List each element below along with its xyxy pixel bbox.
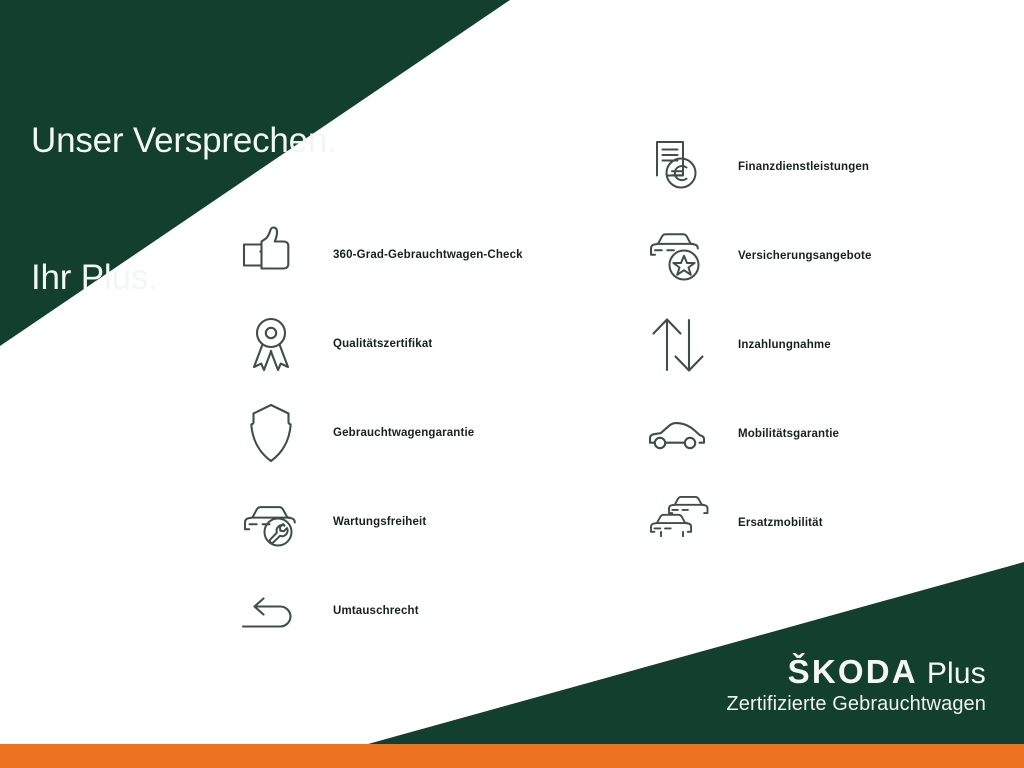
feature-label: Ersatzmobilität [738,517,823,529]
feature-item-exchange-right[interactable]: Umtauschrecht [238,566,523,655]
feature-item-insurance-offers[interactable]: Versicherungsangebote [645,211,872,300]
skoda-wordmark: ŠKODA [788,655,918,689]
plus-wordmark: Plus [927,659,986,689]
brand-logo-row: ŠKODA Plus [726,655,986,689]
feature-label: Umtauschrecht [333,605,419,617]
feature-label: Finanzdienstleistungen [738,161,869,173]
two-cars-icon [645,490,711,556]
feature-item-360-check[interactable]: 360-Grad-Gebrauchtwagen-Check [238,210,523,299]
feature-item-replacement-mobility[interactable]: Ersatzmobilität [645,478,872,567]
feature-label: Versicherungsangebote [738,250,872,262]
feature-item-warranty[interactable]: Gebrauchtwagengarantie [238,388,523,477]
orange-footer-bar [0,744,1024,768]
feature-label: 360-Grad-Gebrauchtwagen-Check [333,249,523,261]
document-euro-icon [645,134,711,200]
feature-list-left: 360-Grad-Gebrauchtwagen-Check Qualitätsz… [238,210,523,655]
return-arrow-icon [238,578,304,644]
feature-item-quality-certificate[interactable]: Qualitätszertifikat [238,299,523,388]
thumbs-up-icon [238,222,304,288]
feature-item-mobility-guarantee[interactable]: Mobilitätsgarantie [645,389,872,478]
feature-list-right: Finanzdienstleistungen Versicherungsange… [645,122,872,567]
feature-item-maintenance-free[interactable]: Wartungsfreiheit [238,477,523,566]
brand-tagline: Zertifizierte Gebrauchtwagen [726,694,986,714]
feature-label: Wartungsfreiheit [333,516,426,528]
feature-label: Qualitätszertifikat [333,338,432,350]
brand-logo-lockup: ŠKODA Plus Zertifizierte Gebrauchtwagen [726,655,986,714]
feature-label: Mobilitätsgarantie [738,428,839,440]
promo-banner: Unser Versprechen. Ihr Plus. 360-Grad-Ge… [0,0,1024,768]
up-down-arrows-icon [645,312,711,378]
feature-item-trade-in[interactable]: Inzahlungnahme [645,300,872,389]
feature-item-financial-services[interactable]: Finanzdienstleistungen [645,122,872,211]
headline-line-1: Unser Versprechen. [31,118,337,164]
feature-label: Inzahlungnahme [738,339,831,351]
car-wrench-icon [238,489,304,555]
feature-label: Gebrauchtwagengarantie [333,427,474,439]
car-star-icon [645,223,711,289]
shield-icon [238,400,304,466]
award-rosette-icon [238,311,304,377]
car-side-icon [645,401,711,467]
